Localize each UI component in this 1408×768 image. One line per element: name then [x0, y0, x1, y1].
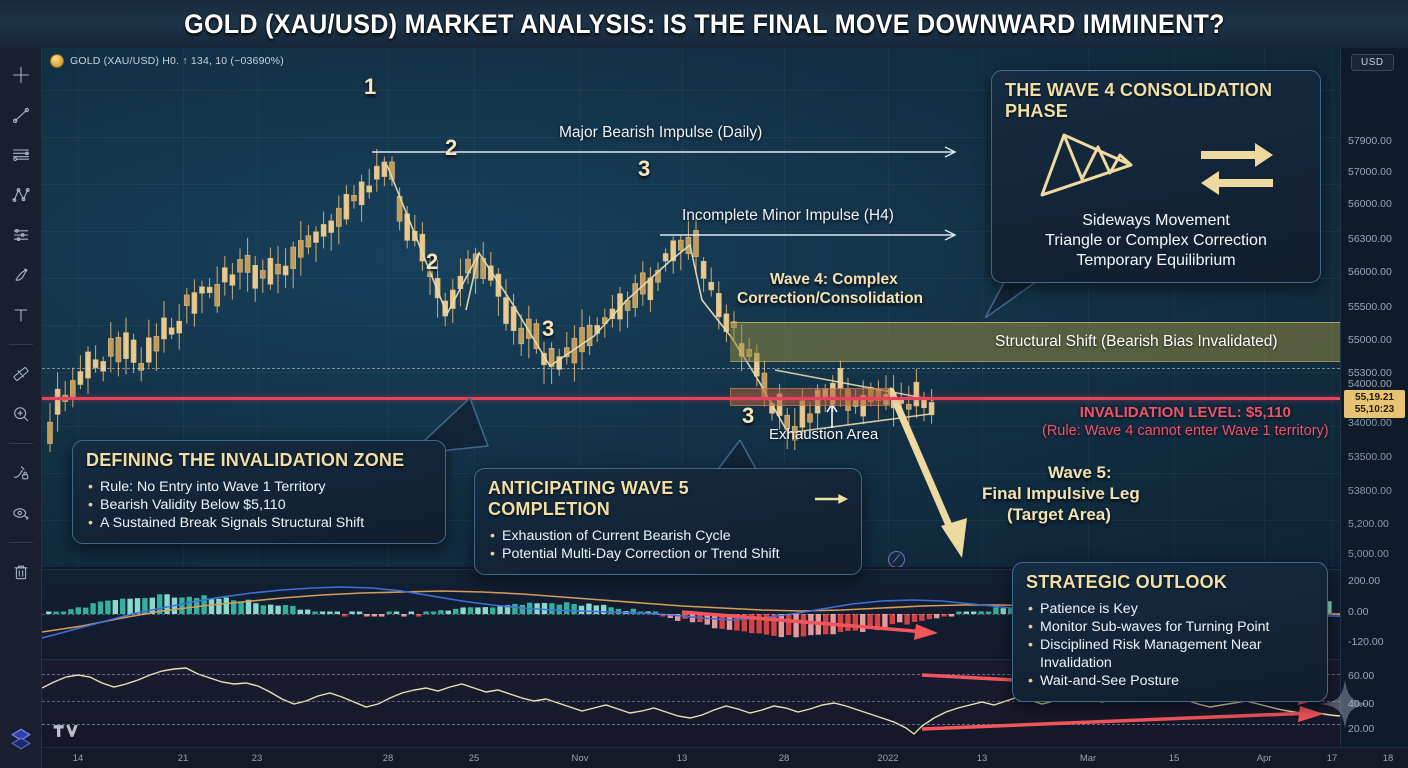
time-axis-label: 28 [779, 753, 790, 764]
pitchfork-icon[interactable] [8, 182, 34, 208]
strategic-bullet: Disciplined Risk Management Near Invalid… [1026, 636, 1314, 672]
sideways-arrows-icon [1197, 133, 1277, 197]
strategic-bullet: Wait-and-See Posture [1026, 672, 1314, 690]
wave-label-3a: 3 [542, 316, 554, 342]
invalidation-callout-title: DEFINING THE INVALIDATION ZONE [86, 450, 432, 471]
price-axis-label: 53500.00 [1348, 451, 1392, 463]
time-axis-label: 25 [469, 753, 480, 764]
structural-shift-zone: Structural Shift (Bearish Bias Invalidat… [730, 322, 1340, 362]
invalidation-level-line [42, 397, 1340, 400]
crosshair-icon[interactable] [8, 62, 34, 88]
price-axis-label: 56000.00 [1348, 266, 1392, 278]
text-tool-icon[interactable] [8, 302, 34, 328]
wave5-bullet: Exhaustion of Current Bearish Cycle [488, 527, 848, 545]
currency-chip[interactable]: USD [1351, 54, 1394, 71]
page-header: GOLD (XAU/USD) MARKET ANALYSIS: IS THE F… [0, 0, 1408, 48]
time-axis-label: 2022 [877, 753, 898, 764]
wave5-callout-title: ANTICIPATING WAVE 5 COMPLETION [488, 478, 848, 520]
wave5-completion-callout[interactable]: ANTICIPATING WAVE 5 COMPLETION Exhaustio… [474, 468, 862, 575]
wave-label-3c: 3 [742, 403, 754, 429]
elliott-wave-path [387, 165, 787, 431]
drawing-toolbar [0, 48, 42, 768]
triangle-pattern-icon [1036, 129, 1136, 201]
wave4-callout-graphics [1005, 129, 1307, 201]
strategic-bullet: Patience is Key [1026, 600, 1314, 618]
time-axis-label: 14 [73, 753, 84, 764]
price-axis-label: 56300.00 [1348, 233, 1392, 245]
measurement-badge-icon[interactable]: ⟋ [888, 551, 905, 567]
price-axis-label: 5,200.00 [1348, 518, 1389, 530]
macd-axis-label: 0.00 [1348, 606, 1368, 618]
brush-icon[interactable] [8, 262, 34, 288]
current-time-value: 55,10:23 [1348, 404, 1401, 416]
horizontal-lines-icon[interactable] [8, 142, 34, 168]
invalidation-rule: (Rule: Wave 4 cannot enter Wave 1 territ… [1042, 422, 1329, 441]
price-axis-label: 57900.00 [1348, 135, 1392, 147]
time-axis-label: 13 [677, 753, 688, 764]
toolbar-divider [9, 542, 33, 543]
price-axis-label: 5,000.00 [1348, 548, 1389, 560]
invalidation-title: INVALIDATION LEVEL: $5,110 [1042, 403, 1329, 422]
toolbar-divider [9, 344, 33, 345]
current-price-value: 55,19.21 [1348, 392, 1401, 404]
wave5-callout-title-text: ANTICIPATING WAVE 5 COMPLETION [488, 478, 807, 520]
time-axis-label: 13 [977, 753, 988, 764]
support-dashed-line [42, 368, 1340, 369]
layers-icon[interactable] [8, 726, 34, 752]
exhaustion-area-label: Exhaustion Area [769, 426, 878, 443]
price-axis-label: 55500.00 [1348, 301, 1392, 313]
tradingview-logo [52, 721, 82, 741]
current-price-badge: 55,19.21 55,10:23 [1344, 390, 1405, 418]
macd-axis-label: -120.00 [1348, 636, 1384, 648]
minor-impulse-label: Incomplete Minor Impulse (H4) [682, 207, 894, 225]
invalidation-bullet: Bearish Validity Below $5,110 [86, 496, 432, 514]
trend-line-icon[interactable] [8, 102, 34, 128]
arrow-right-icon [815, 493, 848, 505]
wave4-label-line2: Correction/Consolidation [737, 289, 923, 308]
wave-label-3b: 3 [638, 156, 650, 182]
invalidation-zone-callout[interactable]: DEFINING THE INVALIDATION ZONE Rule: No … [72, 440, 446, 544]
price-axis-label: 54000.00 [1348, 378, 1392, 390]
wave4-label-line1: Wave 4: Complex [770, 270, 898, 289]
eye-hide-icon[interactable] [8, 500, 34, 526]
trash-icon[interactable] [8, 559, 34, 585]
strategic-outlook-callout[interactable]: STRATEGIC OUTLOOK Patience is Key Monito… [1012, 562, 1328, 702]
gold-coin-icon [50, 54, 64, 68]
macd-axis-label: 200.00 [1348, 575, 1380, 587]
time-axis-label: Nov [572, 753, 589, 764]
major-impulse-label: Major Bearish Impulse (Daily) [559, 124, 762, 142]
wave-label-2b: 2 [426, 249, 438, 275]
price-axis[interactable]: USD 57900.00 57000.00 56000.00 56300.00 … [1340, 48, 1408, 747]
wave5-bullet: Potential Multi-Day Correction or Trend … [488, 545, 848, 563]
major-impulse-arrow [372, 147, 955, 157]
wave-label-2a: 2 [445, 135, 457, 161]
gann-fan-icon[interactable] [8, 222, 34, 248]
price-axis-label: 55000.00 [1348, 334, 1392, 346]
invalidation-bullet: A Sustained Break Signals Structural Shi… [86, 514, 432, 532]
time-axis-label: 23 [252, 753, 263, 764]
ruler-icon[interactable] [8, 361, 34, 387]
wave5-line2: Final Impulsive Leg [982, 484, 1140, 503]
wave5-line1: Wave 5: [1048, 463, 1112, 482]
chart-legend-text: GOLD (XAU/USD) H0. ↑ 134, 10 (~03690%) [70, 55, 284, 67]
magnet-lock-icon[interactable] [8, 460, 34, 486]
page-title: GOLD (XAU/USD) MARKET ANALYSIS: IS THE F… [184, 9, 1225, 40]
invalidation-level-label: INVALIDATION LEVEL: $5,110 (Rule: Wave 4… [1042, 403, 1329, 441]
minor-impulse-arrow [660, 230, 955, 240]
zoom-in-icon[interactable] [8, 401, 34, 427]
time-axis-label: 15 [1169, 753, 1180, 764]
invalidation-bullet: Rule: No Entry into Wave 1 Territory [86, 478, 432, 496]
strategic-bullet: Monitor Sub-waves for Turning Point [1026, 618, 1314, 636]
time-axis-label: Mar [1080, 753, 1096, 764]
wave5-line3: (Target Area) [1007, 505, 1111, 524]
time-axis-label: 28 [383, 753, 394, 764]
toolbar-divider [9, 443, 33, 444]
price-axis-label: 34000.00 [1348, 417, 1392, 429]
wave5-projection-arrow [891, 391, 967, 558]
chart-legend[interactable]: GOLD (XAU/USD) H0. ↑ 134, 10 (~03690%) [50, 54, 284, 68]
price-axis-label: 53800.00 [1348, 485, 1392, 497]
wave4-callout-line3: Temporary Equilibrium [1005, 251, 1307, 271]
time-axis-label: 18 [1383, 753, 1394, 764]
wave4-consolidation-callout[interactable]: THE WAVE 4 CONSOLIDATION PHASE Sideways … [991, 70, 1321, 283]
price-axis-label: 56000.00 [1348, 198, 1392, 210]
price-axis-label: 57000.00 [1348, 166, 1392, 178]
time-axis-label: Apr [1257, 753, 1272, 764]
strategic-outlook-title: STRATEGIC OUTLOOK [1026, 572, 1314, 593]
wave4-callout-line1: Sideways Movement [1005, 211, 1307, 231]
time-axis[interactable]: 14 21 23 28 25 Nov 13 28 2022 13 Mar 15 … [42, 747, 1408, 768]
wave4-callout-title: THE WAVE 4 CONSOLIDATION PHASE [1005, 80, 1307, 122]
time-axis-label: 17 [1327, 753, 1338, 764]
wave4-callout-line2: Triangle or Complex Correction [1005, 231, 1307, 251]
structural-shift-label: Structural Shift (Bearish Bias Invalidat… [995, 333, 1278, 351]
exhaustion-arrow [827, 404, 837, 428]
time-axis-label: 21 [178, 753, 189, 764]
wave-label-1: 1 [364, 74, 376, 100]
